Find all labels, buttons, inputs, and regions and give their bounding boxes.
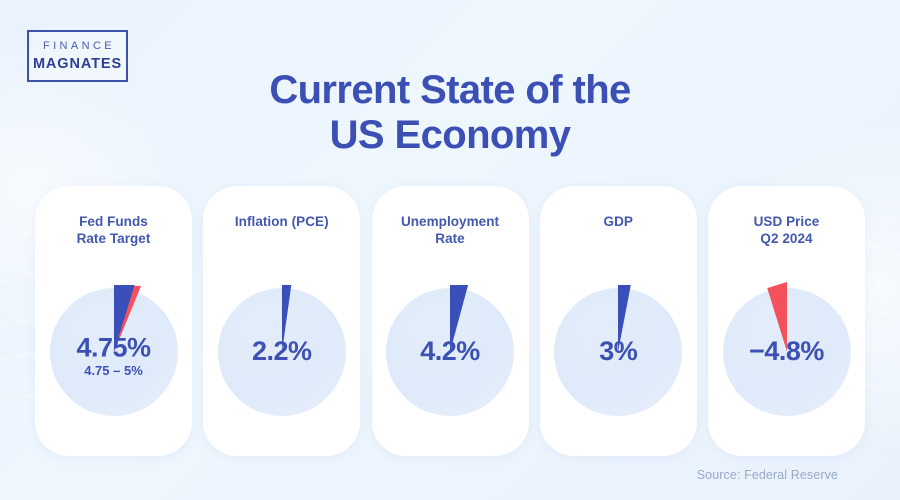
- metric-card: Fed FundsRate Target4.75%4.75 – 5%: [35, 186, 192, 456]
- metric-card-title: USD PriceQ2 2024: [718, 213, 855, 248]
- metric-card-title: UnemploymentRate: [382, 213, 519, 248]
- metric-value: −4.8%: [723, 338, 851, 365]
- metric-card-title: GDP: [550, 213, 687, 230]
- metric-value: 3%: [554, 338, 682, 365]
- metric-value-range: 4.75 – 5%: [50, 364, 178, 377]
- metric-value: 4.75%: [50, 335, 178, 362]
- metric-card-row: Fed FundsRate Target4.75%4.75 – 5%Inflat…: [35, 186, 865, 456]
- metric-value: 4.2%: [386, 338, 514, 365]
- logo-line-finance: FINANCE: [40, 41, 115, 52]
- pie-gauge: 4.2%: [386, 288, 514, 416]
- metric-card: USD PriceQ2 2024−4.8%: [708, 186, 865, 456]
- page-title-line2: US Economy: [0, 113, 900, 158]
- page-title: Current State of the US Economy: [0, 68, 900, 158]
- pie-gauge: 3%: [554, 288, 682, 416]
- pie-gauge: −4.8%: [723, 288, 851, 416]
- pie-gauge: 4.75%4.75 – 5%: [50, 288, 178, 416]
- metric-card: Inflation (PCE)2.2%: [203, 186, 360, 456]
- metric-card: GDP3%: [540, 186, 697, 456]
- metric-card: UnemploymentRate4.2%: [372, 186, 529, 456]
- infographic-canvas: FINANCE MAGNATES Current State of the US…: [0, 0, 900, 500]
- source-label: Source: Federal Reserve: [697, 468, 838, 482]
- pie-gauge: 2.2%: [218, 288, 346, 416]
- metric-card-title: Inflation (PCE): [213, 213, 350, 230]
- metric-card-title: Fed FundsRate Target: [45, 213, 182, 248]
- metric-value: 2.2%: [218, 338, 346, 365]
- page-title-line1: Current State of the: [269, 68, 630, 112]
